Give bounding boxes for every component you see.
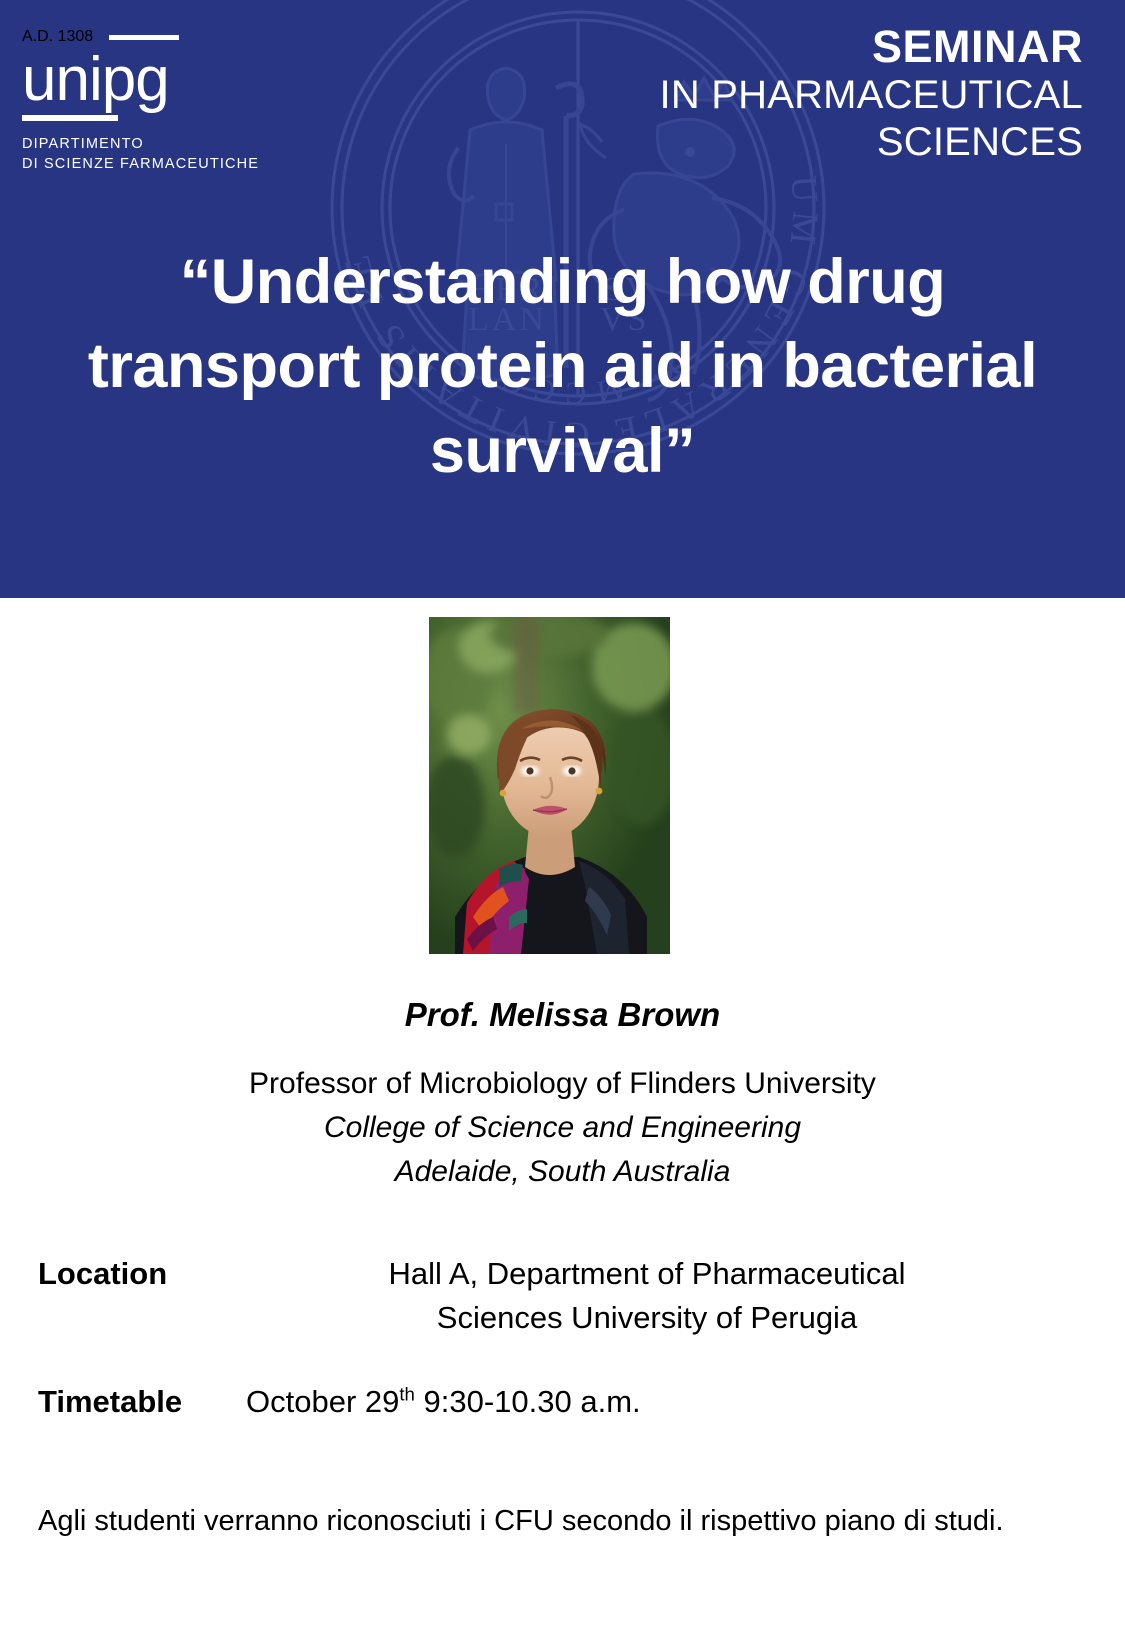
banner: UM GENERALE CIVITATIS PERUSII ·D· MCCCVI… bbox=[0, 0, 1125, 598]
seminar-heading-line-2: IN PHARMACEUTICAL bbox=[660, 72, 1083, 118]
seminar-heading-line-1: SEMINAR bbox=[660, 22, 1083, 72]
timetable-date: October 29 bbox=[246, 1384, 399, 1419]
detail-row-location: Location Hall A, Department of Pharmaceu… bbox=[38, 1252, 1048, 1340]
seminar-heading: SEMINAR IN PHARMACEUTICAL SCIENCES bbox=[660, 22, 1083, 165]
affiliation-line-1: Professor of Microbiology of Flinders Un… bbox=[0, 1062, 1125, 1106]
seminar-heading-line-3: SCIENCES bbox=[660, 119, 1083, 165]
cfu-note: Agli studenti verranno riconosciuti i CF… bbox=[38, 1500, 1038, 1542]
logo-founded-year: A.D. 1308 bbox=[22, 28, 93, 46]
speaker-portrait bbox=[429, 617, 670, 954]
location-value: Hall A, Department of Pharmaceutical Sci… bbox=[246, 1252, 1048, 1340]
event-details: Location Hall A, Department of Pharmaceu… bbox=[38, 1252, 1048, 1464]
timetable-label: Timetable bbox=[38, 1380, 246, 1424]
logo-department-line-2: DI SCIENZE FARMACEUTICHE bbox=[22, 154, 322, 175]
timetable-date-ordinal: th bbox=[399, 1384, 415, 1405]
seminar-title: “Understanding how drug transport protei… bbox=[0, 240, 1125, 493]
speaker-affiliation: Professor of Microbiology of Flinders Un… bbox=[0, 1062, 1125, 1194]
timetable-value: October 29th 9:30-10.30 a.m. bbox=[246, 1380, 1048, 1424]
detail-row-timetable: Timetable October 29th 9:30-10.30 a.m. bbox=[38, 1380, 1048, 1424]
logo-rule bbox=[109, 35, 179, 40]
speaker-name: Prof. Melissa Brown bbox=[0, 996, 1125, 1034]
logo-wordmark: unipg bbox=[22, 50, 322, 111]
location-value-line-2: Sciences University of Perugia bbox=[246, 1296, 1048, 1340]
unipg-logo: A.D. 1308 unipg DIPARTIMENTO DI SCIENZE … bbox=[22, 28, 322, 175]
logo-underline bbox=[22, 115, 118, 121]
affiliation-line-2: College of Science and Engineering bbox=[0, 1106, 1125, 1150]
location-label: Location bbox=[38, 1252, 246, 1296]
location-value-line-1: Hall A, Department of Pharmaceutical bbox=[246, 1252, 1048, 1296]
logo-founded-row: A.D. 1308 bbox=[22, 28, 322, 46]
affiliation-line-3: Adelaide, South Australia bbox=[0, 1150, 1125, 1194]
timetable-time: 9:30-10.30 a.m. bbox=[424, 1384, 641, 1419]
logo-department-line-1: DIPARTIMENTO bbox=[22, 134, 322, 155]
